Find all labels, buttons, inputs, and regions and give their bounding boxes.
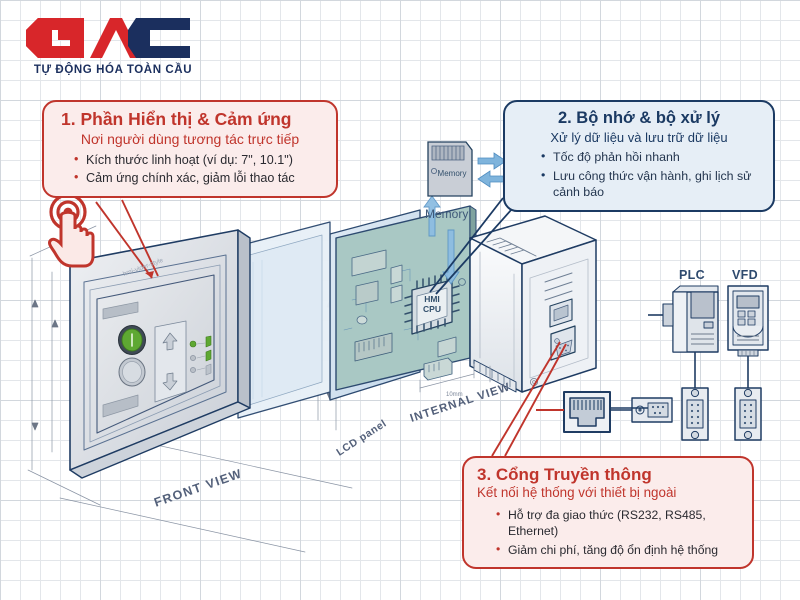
device-label-vfd: VFD [732,268,758,282]
callout-box-display-touch[interactable]: 1. Phần Hiển thị & Cảm ứng Nơi người dùn… [42,100,338,198]
logo-tagline: TỰ ĐỘNG HÓA TOÀN CẦU [18,64,208,76]
callout-bullet-list: Kích thước linh hoạt (ví dụ: 7", 10.1") … [57,152,323,187]
callout-title: 3. Cổng Truyền thông [477,465,739,485]
callout-bullet: Cảm ứng chính xác, giảm lỗi thao tác [73,170,323,187]
callout-box-communication-ports[interactable]: 3. Cổng Truyền thông Kết nối hệ thống vớ… [462,456,754,569]
callout-bullet-list: Tốc độ phản hồi nhanh Lưu công thức vận … [518,149,760,201]
callout-title: 2. Bộ nhớ & bộ xử lý [518,109,760,129]
callout-bullet: Lưu công thức vận hành, ghi lịch sử cảnh… [540,168,760,201]
gac-wordmark [18,14,208,62]
memory-card-chip-label: Memory [438,169,467,178]
vfd-device-icon [728,286,768,356]
db9-connector-icon [682,388,708,440]
callout-bullet: Giảm chi phí, tăng độ ổn định hệ thống [495,542,739,558]
memory-arrow-label: Memory [425,207,468,221]
svg-text:CPU: CPU [423,304,441,314]
device-label-plc: PLC [679,268,705,282]
rj45-port-icon [564,392,610,432]
dimension-label: 10mm [446,392,463,398]
touch-hand-icon [28,190,106,272]
infographic-stage: HMI CPU [0,0,800,600]
callout-subtitle: Kết nối hệ thống với thiết bị ngoài [477,485,739,502]
callout-bullet: Hỗ trợ đa giao thức (RS232, RS485, Ether… [495,507,739,539]
svg-text:HMI: HMI [424,294,440,304]
plc-device-icon [663,286,718,352]
callout-subtitle: Xử lý dữ liệu và lưu trữ dữ liệu [518,130,760,146]
callout-box-memory-processor[interactable]: 2. Bộ nhớ & bộ xử lý Xử lý dữ liệu và lư… [503,100,775,212]
callout-bullet: Kích thước linh hoạt (ví dụ: 7", 10.1") [73,152,323,169]
gac-logo: TỰ ĐỘNG HÓA TOÀN CẦU [18,14,208,76]
db9-plug-icon [632,398,672,422]
callout-subtitle: Nơi người dùng tương tác trực tiếp [57,131,323,149]
db9-connector-icon-2 [735,388,761,440]
callout-bullet: Tốc độ phản hồi nhanh [540,149,760,166]
callout-title: 1. Phần Hiển thị & Cảm ứng [57,109,323,130]
callout-bullet-list: Hỗ trợ đa giao thức (RS232, RS485, Ether… [477,507,739,558]
